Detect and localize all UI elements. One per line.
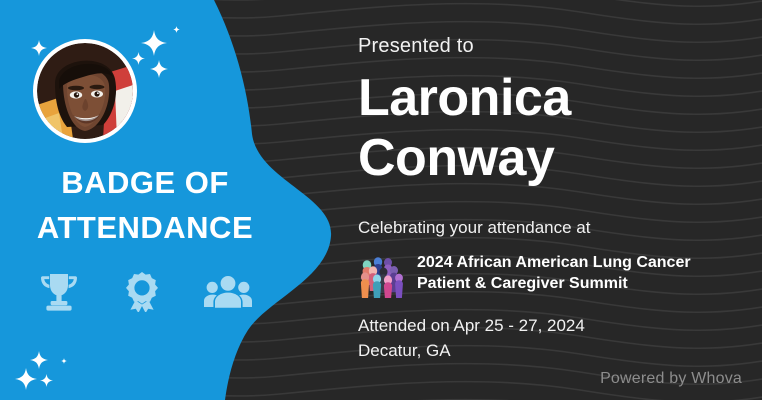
badge-title-line-2: ATTENDANCE bbox=[0, 205, 290, 250]
recipient-first-name: Laronica bbox=[358, 68, 571, 128]
event-name: 2024 African American Lung Cancer Patien… bbox=[417, 252, 691, 294]
sparkle-icon bbox=[61, 358, 67, 364]
badge-icon-row bbox=[0, 272, 290, 312]
sparkle-icon bbox=[15, 368, 37, 390]
sparkle-icon bbox=[150, 60, 168, 78]
recipient-last-name: Conway bbox=[358, 128, 571, 188]
avatar-photo bbox=[37, 43, 133, 139]
event-logo-icon bbox=[358, 254, 406, 298]
event-name-line-1: 2024 African American Lung Cancer bbox=[417, 252, 691, 273]
event-name-line-2: Patient & Caregiver Summit bbox=[417, 273, 691, 294]
sparkle-icon bbox=[173, 26, 180, 33]
presented-to-label: Presented to bbox=[358, 35, 474, 58]
right-panel-content: Presented to Laronica Conway Celebrating… bbox=[358, 0, 758, 400]
badge-title-line-1: BADGE OF bbox=[61, 165, 229, 200]
event-location: Decatur, GA bbox=[358, 338, 451, 363]
badge-of-attendance: BADGE OF ATTENDANCE bbox=[0, 0, 762, 400]
sparkle-icon bbox=[40, 374, 53, 387]
celebrating-label: Celebrating your attendance at bbox=[358, 218, 591, 238]
recipient-name: Laronica Conway bbox=[358, 68, 571, 188]
event-row: 2024 African American Lung Cancer Patien… bbox=[358, 252, 691, 298]
award-ribbon-icon bbox=[124, 272, 160, 312]
left-panel-content: BADGE OF ATTENDANCE bbox=[0, 0, 290, 400]
trophy-icon bbox=[38, 272, 80, 312]
sparkle-icon bbox=[30, 351, 48, 369]
avatar bbox=[33, 39, 137, 143]
badge-title: BADGE OF ATTENDANCE bbox=[0, 160, 290, 250]
powered-by-label: Powered by Whova bbox=[600, 370, 742, 388]
attended-on-date: Attended on Apr 25 - 27, 2024 bbox=[358, 313, 585, 338]
people-group-icon bbox=[204, 274, 252, 310]
